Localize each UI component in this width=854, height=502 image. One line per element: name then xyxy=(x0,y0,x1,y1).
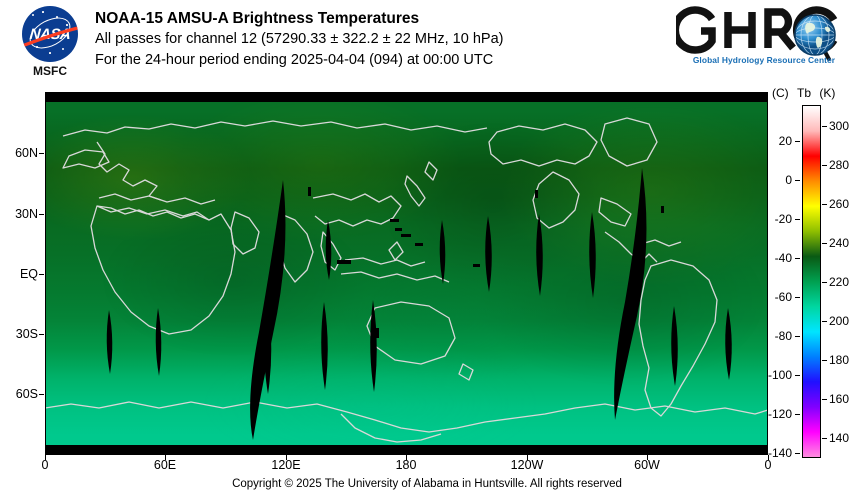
cb-celsius-minus60: -60 xyxy=(752,290,792,304)
y-tick-label-30n: 30N xyxy=(0,207,38,221)
colorbar-unit-celsius: (C) xyxy=(772,86,789,100)
ghrc-globe-icon xyxy=(794,14,836,56)
y-tick-label-60n: 60N xyxy=(0,146,38,160)
cb-celsius-minus120: -120 xyxy=(752,407,792,421)
ghrc-logo: Global Hydrology Resource Center xyxy=(676,8,846,78)
brightness-temperature-map[interactable] xyxy=(45,92,768,455)
cb-kelvin-140: 140 xyxy=(829,431,849,445)
cb-celsius-0: 0 xyxy=(752,173,792,187)
page-subtitle-period: For the 24-hour period ending 2025-04-04… xyxy=(95,50,503,71)
nasa-logo: NASA MSFC xyxy=(14,6,86,84)
cb-kelvin-200: 200 xyxy=(829,314,849,328)
colorbar-header: (C) Tb (K) xyxy=(772,86,854,100)
x-tick-label-60w: 60W xyxy=(622,458,672,472)
x-tick-label-60e: 60E xyxy=(140,458,190,472)
cb-kelvin-280: 280 xyxy=(829,158,849,172)
cb-celsius-minus140: -140 xyxy=(752,446,792,460)
title-block: NOAA-15 AMSU-A Brightness Temperatures A… xyxy=(95,8,503,71)
copyright-notice: Copyright © 2025 The University of Alaba… xyxy=(0,478,854,490)
x-tick-label-0: 0 xyxy=(20,458,70,472)
page-subtitle-channel: All passes for channel 12 (57290.33 ± 32… xyxy=(95,29,503,50)
x-tick-label-180: 180 xyxy=(381,458,431,472)
x-tick-label-120e: 120E xyxy=(261,458,311,472)
cb-celsius-minus40: -40 xyxy=(752,251,792,265)
nasa-swoosh-icon xyxy=(22,26,78,48)
ghrc-tagline: Global Hydrology Resource Center xyxy=(682,55,846,65)
cb-kelvin-180: 180 xyxy=(829,353,849,367)
y-tick-label-eq: EQ xyxy=(0,267,38,281)
x-tick-label-120w: 120W xyxy=(502,458,552,472)
cb-kelvin-260: 260 xyxy=(829,197,849,211)
nasa-meatball-icon: NASA xyxy=(22,6,78,62)
cb-celsius-minus20: -20 xyxy=(752,212,792,226)
y-tick-label-60s: 60S xyxy=(0,387,38,401)
cb-celsius-minus80: -80 xyxy=(752,329,792,343)
colorbar-unit-kelvin: (K) xyxy=(819,86,835,100)
cb-celsius-minus100: -100 xyxy=(752,368,792,382)
page-header: NASA MSFC NOAA-15 AMSU-A Brightness Temp… xyxy=(0,0,854,88)
cb-kelvin-160: 160 xyxy=(829,392,849,406)
colorbar[interactable] xyxy=(802,105,821,458)
y-tick-label-30s: 30S xyxy=(0,327,38,341)
cb-kelvin-220: 220 xyxy=(829,275,849,289)
nasa-center-label: MSFC xyxy=(14,64,86,78)
x-tick-label-360: 0 xyxy=(743,458,793,472)
cb-kelvin-300: 300 xyxy=(829,119,849,133)
cb-kelvin-240: 240 xyxy=(829,236,849,250)
map-data-field xyxy=(45,102,768,445)
colorbar-variable: Tb xyxy=(797,86,811,100)
page-title: NOAA-15 AMSU-A Brightness Temperatures xyxy=(95,8,503,29)
cb-celsius-20: 20 xyxy=(752,134,792,148)
swath-gap-overlay xyxy=(45,102,768,445)
colorbar-gradient xyxy=(803,106,820,457)
